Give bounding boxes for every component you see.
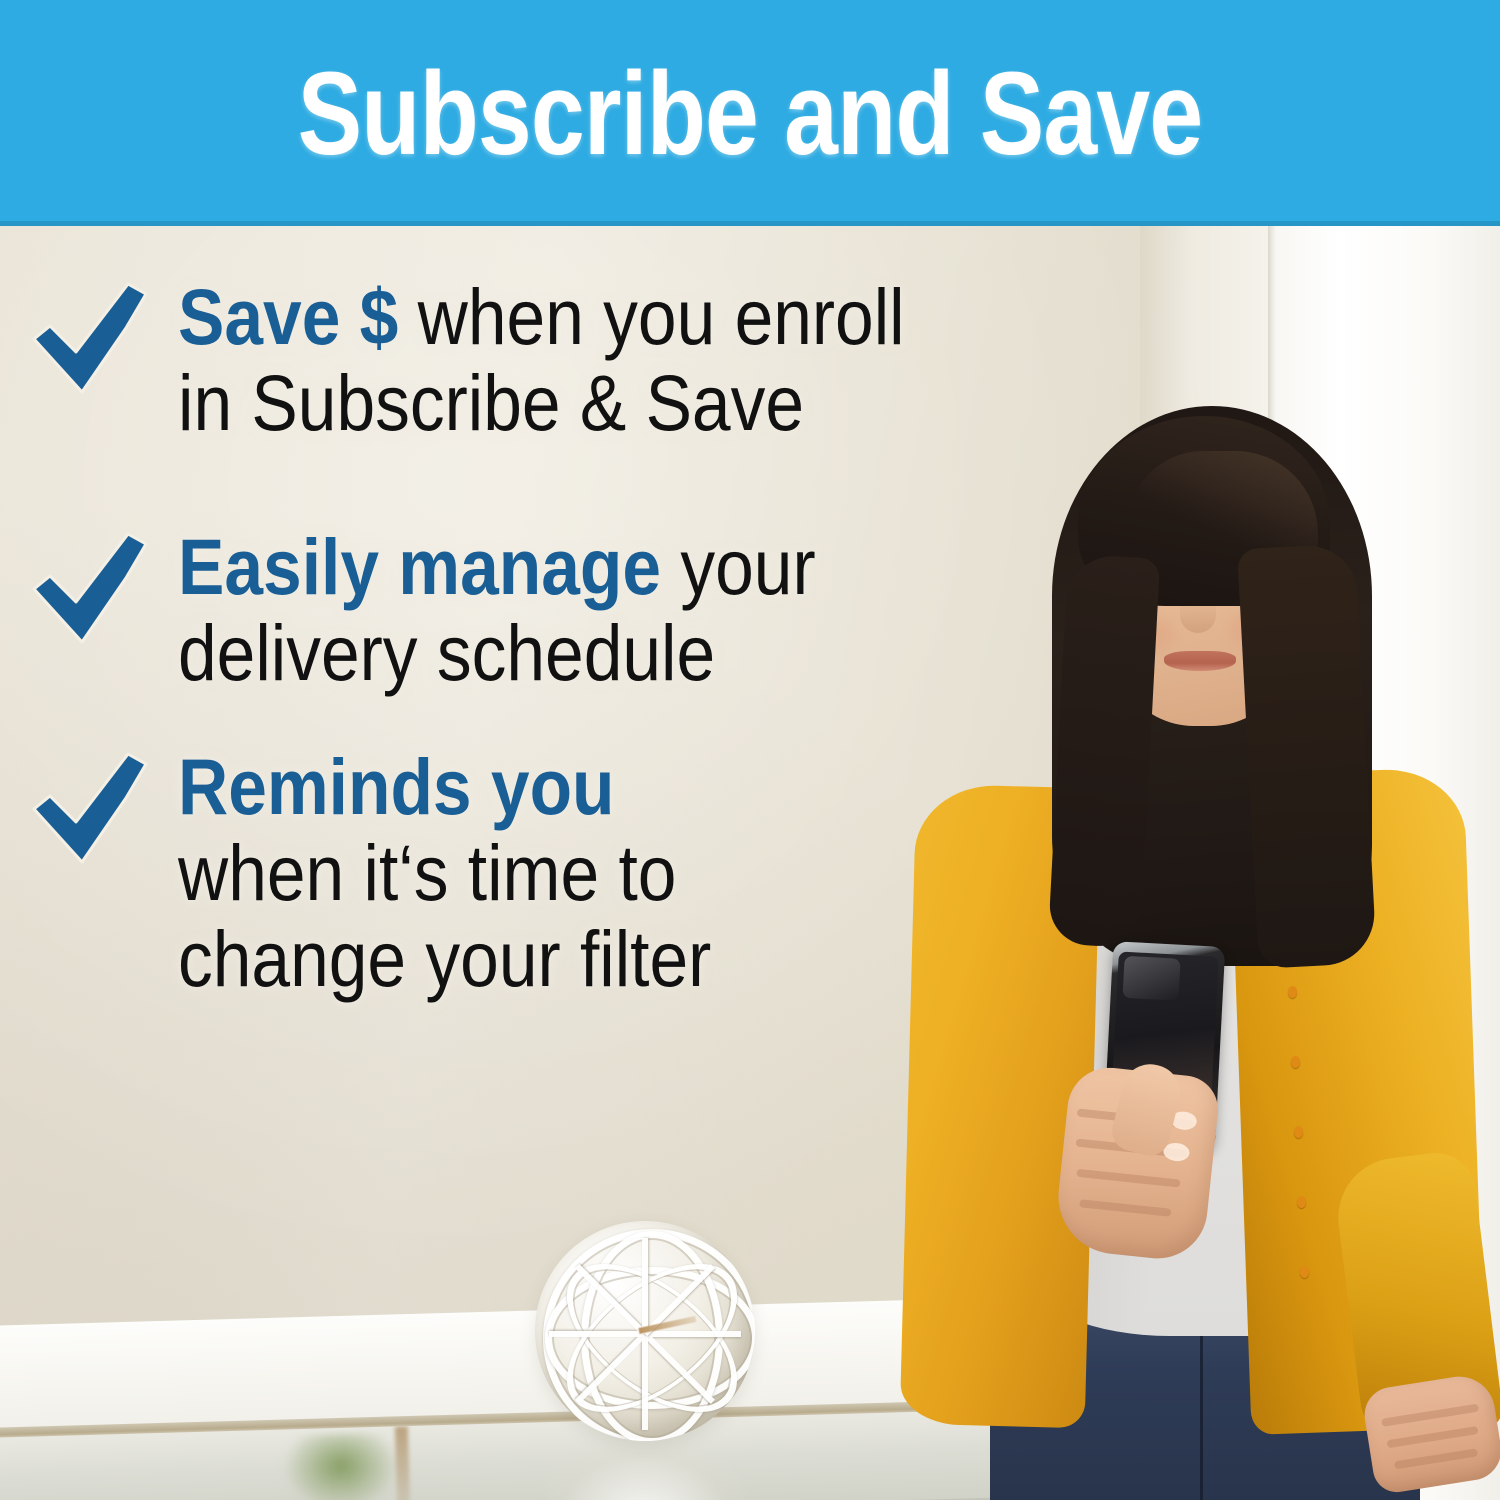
decorative-sphere [535,1221,755,1441]
checkmark-icon [30,532,150,644]
promo-banner: Subscribe and Save Save $ when you enrol… [0,0,1500,1500]
mouth [1164,651,1236,671]
list-item-text: Save $ when you enroll in Subscribe & Sa… [178,274,1058,446]
bullet-1-line-1: Save $ when you enroll [178,274,952,360]
hair-lock-right [1237,543,1377,969]
bullet-3-line-2: when it‘s time to [178,830,952,916]
list-item-text: Easily manage your delivery schedule [178,524,1058,696]
bullet-1-line-2: in Subscribe & Save [178,360,952,446]
bullet-2-line-2: delivery schedule [178,610,952,696]
phone-glare [1122,956,1180,1001]
header-band: Subscribe and Save [0,0,1500,226]
plant-reflection [280,1432,402,1500]
header-band-shadow [0,221,1500,226]
list-item-text: Reminds you when it‘s time to change you… [178,744,1058,1002]
checkmark-icon [30,752,150,864]
checkmark-icon [30,282,150,394]
bullet-2-line-1: Easily manage your [178,524,952,610]
page-title: Subscribe and Save [135,55,1365,173]
right-hand [1361,1371,1500,1495]
bullet-3-line-3: change your filter [178,916,952,1002]
bullet-3-line-1: Reminds you [178,744,952,830]
table-leg-reflection [395,1426,411,1500]
jeans-seam [1200,1316,1203,1500]
